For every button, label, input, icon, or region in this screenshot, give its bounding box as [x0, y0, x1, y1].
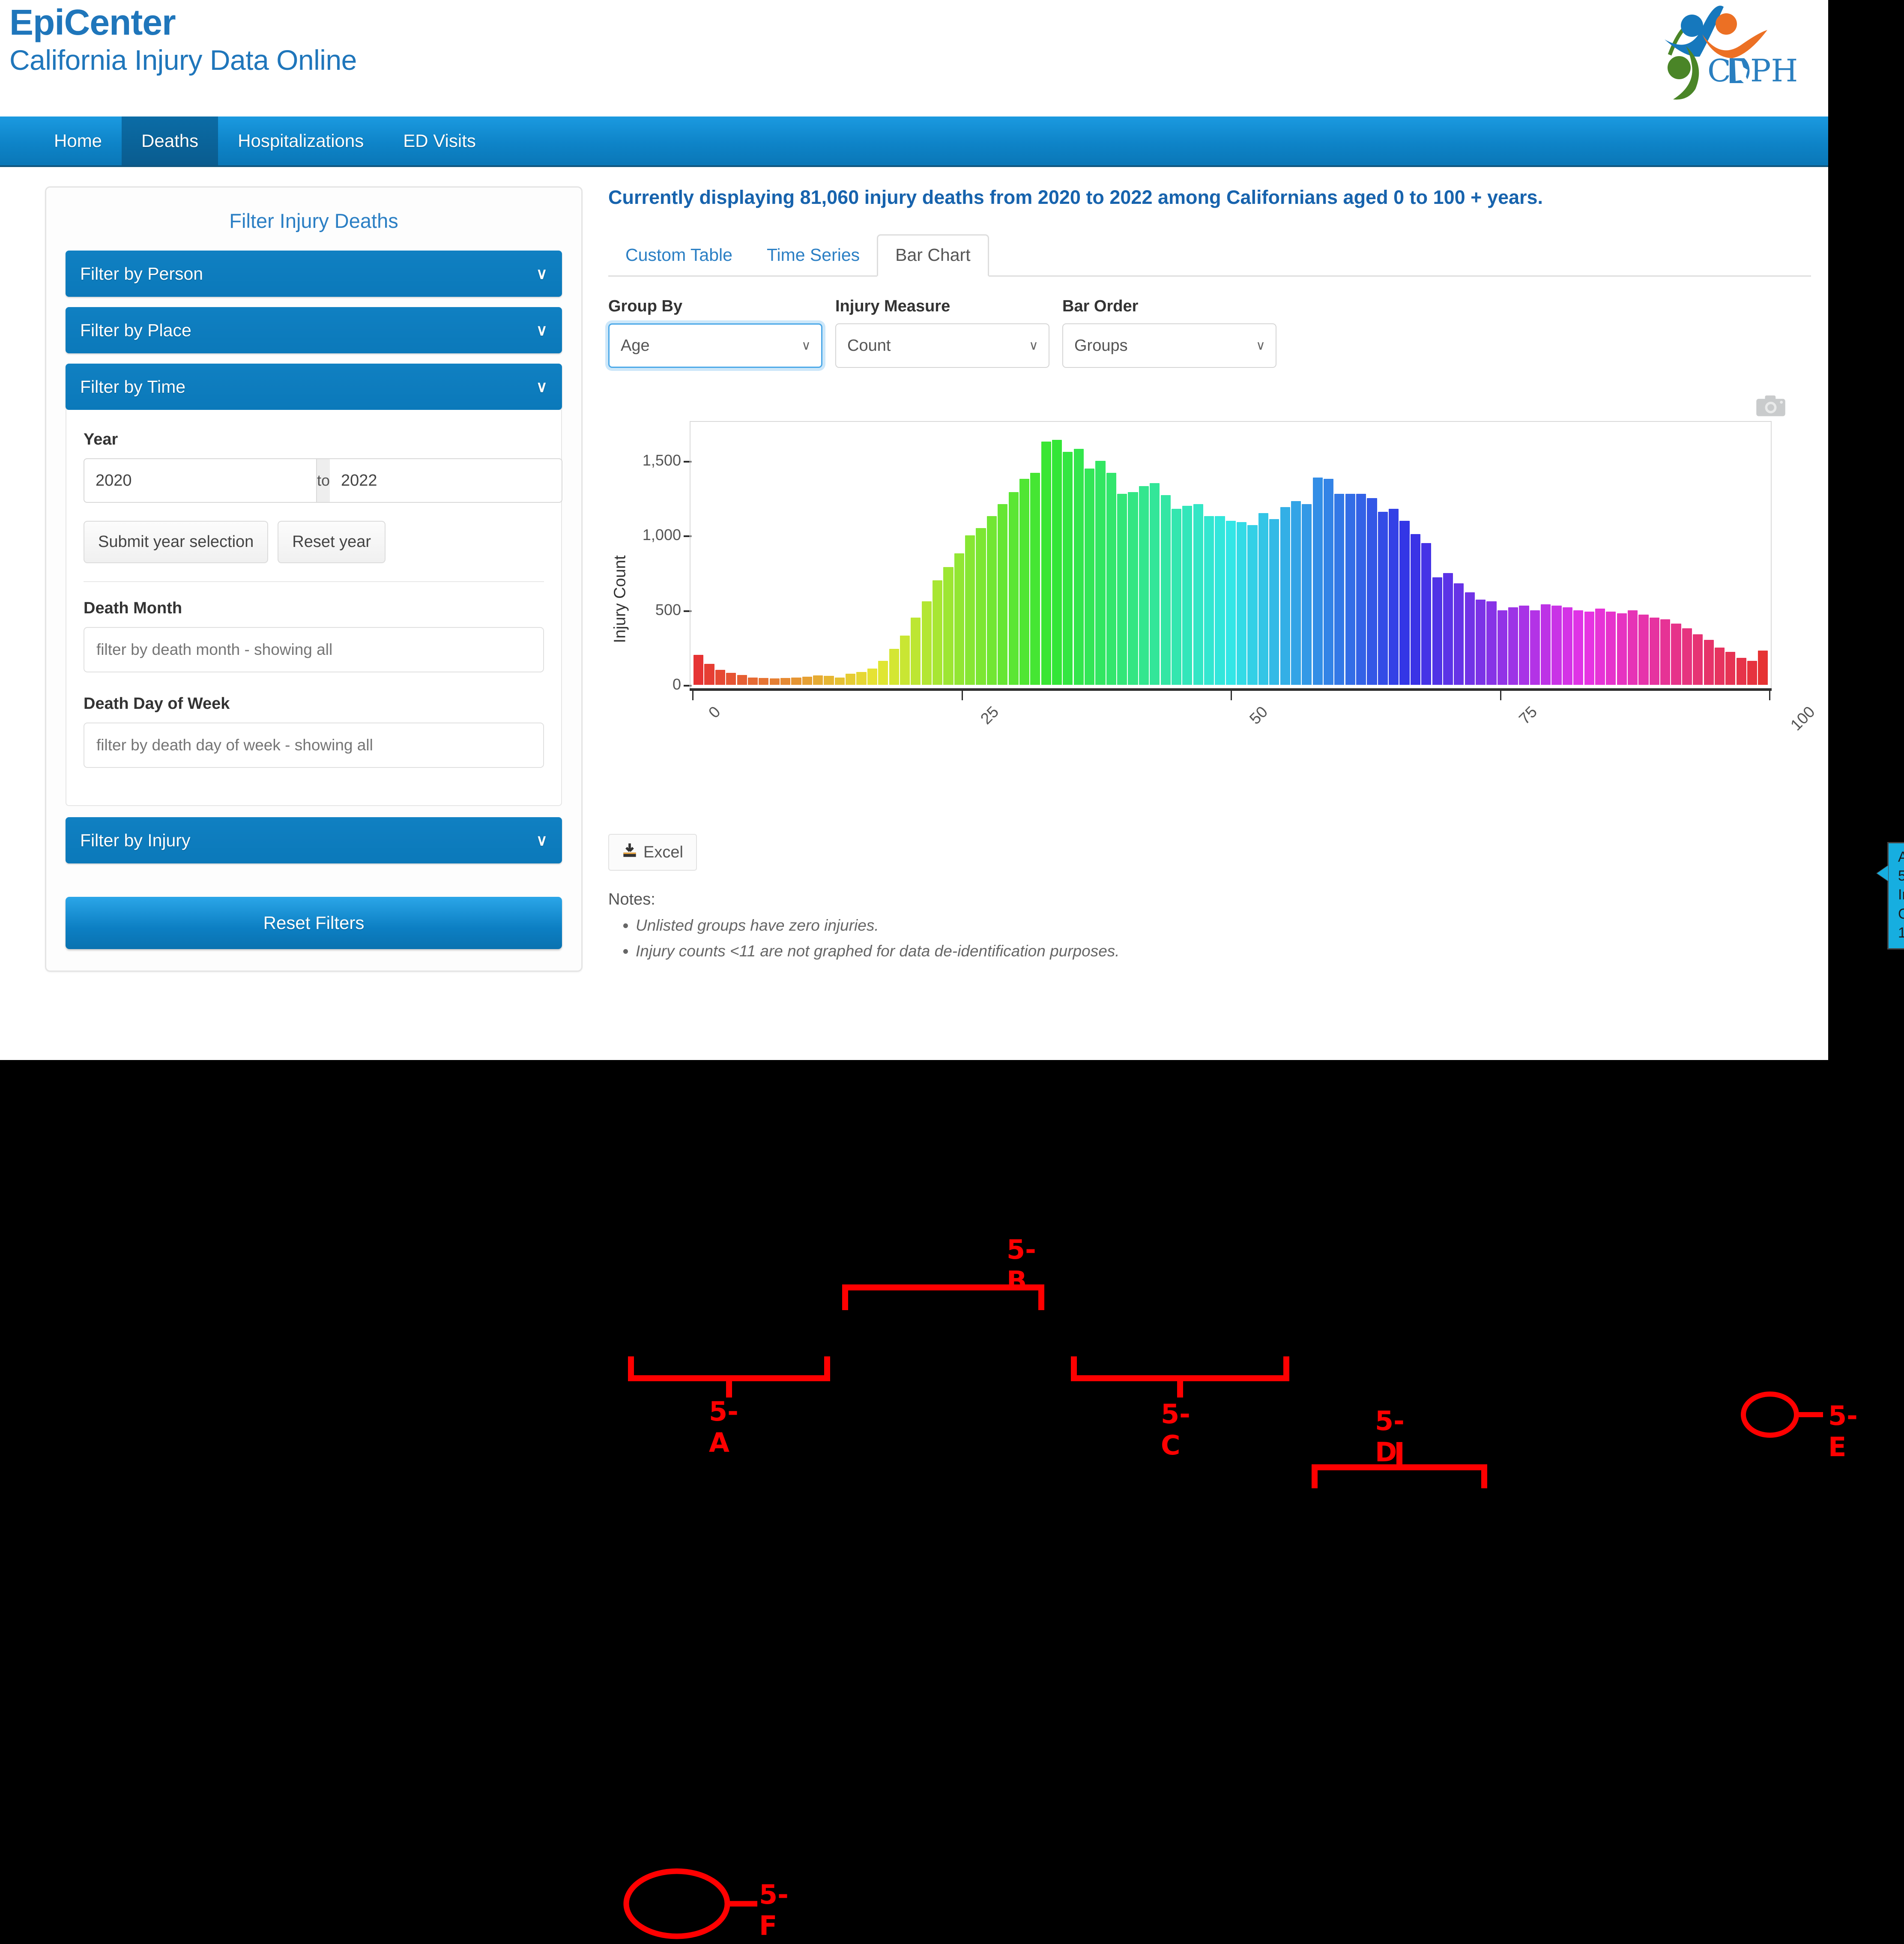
bar-order-control: Bar Order Groups ∨ [1062, 297, 1276, 368]
excel-export-button[interactable]: Excel [608, 834, 697, 871]
injury-measure-select[interactable]: Count ∨ [835, 323, 1049, 368]
group-by-value: Age [621, 337, 650, 355]
tab-custom-table[interactable]: Custom Table [608, 236, 750, 275]
submit-year-selection-button[interactable]: Submit year selection [84, 521, 268, 563]
reset-filters-button[interactable]: Reset Filters [66, 897, 562, 949]
bar[interactable] [987, 516, 997, 685]
bar[interactable] [835, 678, 845, 685]
bar[interactable] [1704, 640, 1714, 685]
chevron-down-icon: ∨ [536, 265, 547, 283]
main-nav[interactable]: Home Deaths Hospitalizations ED Visits [0, 116, 1828, 167]
bar[interactable] [911, 618, 921, 685]
site-title: EpiCenter [9, 4, 357, 41]
accordion-filter-by-person[interactable]: Filter by Person ∨ [66, 251, 562, 297]
bar[interactable] [1584, 612, 1594, 685]
bar[interactable] [1161, 495, 1171, 685]
bar[interactable] [965, 535, 975, 685]
brand: EpiCenter California Injury Data Online [9, 4, 357, 75]
chevron-up-icon: ∨ [536, 378, 547, 396]
bar[interactable] [1139, 486, 1149, 685]
y-axis-tick-mark [684, 610, 691, 612]
bar[interactable] [759, 678, 768, 685]
chart-plot-area: Injury Count 05001,0001,500 0255075100 [608, 411, 1811, 766]
bar[interactable] [1595, 609, 1605, 685]
notes-section: Notes: Unlisted groups have zero injurie… [608, 890, 1811, 960]
list-item: Injury counts <11 are not graphed for da… [636, 942, 1811, 960]
bar[interactable] [1063, 452, 1073, 685]
group-by-label: Group By [608, 297, 822, 316]
accordion-label: Filter by Injury [80, 830, 190, 851]
bar[interactable] [1682, 628, 1692, 685]
sidebar-column: Filter Injury Deaths Filter by Person ∨ … [0, 180, 583, 972]
status-text: Currently displaying 81,060 injury death… [608, 186, 1811, 209]
annotation-label: 5-B [1007, 1234, 1036, 1296]
bar[interactable] [1715, 648, 1725, 685]
bar[interactable] [1204, 516, 1214, 685]
year-to-input[interactable] [330, 458, 562, 503]
bar[interactable] [1454, 583, 1464, 685]
bar[interactable] [1693, 634, 1703, 685]
bar[interactable] [1345, 494, 1355, 685]
nav-item-hospitalizations[interactable]: Hospitalizations [218, 116, 383, 165]
accordion-label: Filter by Time [80, 377, 185, 397]
bar[interactable] [1476, 600, 1486, 685]
chart-tooltip: Age : 57 Injury Count: 1,390 [1887, 842, 1904, 950]
tooltip-arrow [1877, 866, 1888, 881]
y-axis-tick-label: 1,000 [625, 526, 681, 544]
bar[interactable] [1150, 483, 1160, 685]
bar[interactable] [693, 655, 703, 685]
bar[interactable] [1660, 619, 1670, 685]
annotation-label: 5-C [1161, 1398, 1190, 1461]
bar[interactable] [824, 676, 834, 685]
bar[interactable] [737, 675, 747, 685]
filter-by-time-panel: Year to Submit year selection Reset year… [66, 410, 562, 806]
bar[interactable] [715, 670, 725, 685]
bar[interactable] [1563, 607, 1572, 685]
chart-controls: Group By Age ∨ Injury Measure Count ∨ Ba… [608, 297, 1811, 368]
tooltip-line-1: Age : 57 [1898, 848, 1904, 885]
bar[interactable] [1313, 478, 1323, 685]
chevron-down-icon: ∨ [801, 338, 811, 353]
chevron-down-icon: ∨ [536, 831, 547, 849]
group-by-control: Group By Age ∨ [608, 297, 822, 368]
x-axis: 0255075100 [690, 688, 1772, 691]
bar[interactable] [1324, 479, 1333, 685]
bar[interactable] [813, 675, 823, 685]
y-axis-tick-mark [684, 535, 691, 537]
bar[interactable] [1247, 525, 1257, 685]
bar[interactable] [1541, 604, 1551, 685]
bar[interactable] [1725, 652, 1735, 685]
death-day-of-week-label: Death Day of Week [84, 695, 544, 713]
bar[interactable] [1367, 498, 1377, 685]
x-axis-tick-label: 50 [1246, 703, 1271, 728]
filter-panel-title: Filter Injury Deaths [66, 209, 562, 233]
x-axis-tick-mark [692, 691, 693, 700]
bar[interactable] [1617, 613, 1627, 685]
bar[interactable] [922, 601, 932, 685]
list-item: Unlisted groups have zero injuries. [636, 917, 1811, 935]
bars-container [693, 424, 1768, 685]
year-button-row: Submit year selection Reset year [84, 521, 544, 563]
bar[interactable] [1519, 606, 1529, 685]
x-axis-tick-mark [1769, 691, 1770, 700]
bar[interactable] [867, 669, 877, 685]
death-month-label: Death Month [84, 599, 544, 618]
bar[interactable] [1258, 513, 1268, 685]
y-axis-tick-mark [684, 461, 691, 463]
death-day-of-week-input[interactable] [84, 723, 544, 768]
bar[interactable] [1638, 615, 1648, 685]
x-axis-tick-mark [1231, 691, 1232, 700]
death-month-input[interactable] [84, 627, 544, 672]
bar[interactable] [1215, 516, 1225, 685]
annotation-label: 5-A [709, 1396, 738, 1458]
year-range-row: to [84, 458, 544, 503]
bar[interactable] [1551, 606, 1561, 685]
notes-title: Notes: [608, 890, 1811, 909]
bar[interactable] [1508, 607, 1518, 685]
accordion-label: Filter by Person [80, 264, 203, 284]
tab-bar-chart[interactable]: Bar Chart [877, 234, 989, 277]
bar[interactable] [976, 528, 986, 685]
bar[interactable] [1019, 479, 1029, 685]
x-axis-tick-label: 100 [1787, 703, 1818, 734]
bar[interactable] [1378, 512, 1388, 685]
bar[interactable] [889, 649, 899, 685]
cdph-logo: C PH [1653, 3, 1824, 110]
bar[interactable] [1074, 449, 1084, 685]
year-range-separator: to [317, 458, 330, 503]
y-axis-title: Injury Count [611, 555, 630, 643]
bar[interactable] [1671, 624, 1681, 685]
bar[interactable] [998, 504, 1007, 685]
bar[interactable] [954, 553, 964, 685]
bar[interactable] [1443, 573, 1453, 685]
bar[interactable] [1628, 610, 1638, 685]
bar[interactable] [1389, 509, 1399, 685]
notes-list: Unlisted groups have zero injuries. Inju… [608, 917, 1811, 960]
bar[interactable] [1399, 521, 1409, 685]
site-header: EpiCenter California Injury Data Online … [0, 0, 1828, 116]
bar[interactable] [791, 678, 801, 685]
filter-panel: Filter Injury Deaths Filter by Person ∨ … [45, 186, 583, 972]
download-icon [622, 842, 637, 862]
bar[interactable] [1573, 610, 1583, 685]
app-page: EpiCenter California Injury Data Online … [0, 0, 1828, 1060]
chevron-down-icon: ∨ [1256, 338, 1265, 353]
bar[interactable] [1302, 504, 1312, 685]
accordion-filter-by-injury[interactable]: Filter by Injury ∨ [66, 817, 562, 863]
bar[interactable] [1606, 612, 1616, 685]
injury-measure-control: Injury Measure Count ∨ [835, 297, 1049, 368]
year-label: Year [84, 430, 544, 449]
nav-item-deaths[interactable]: Deaths [122, 116, 218, 165]
bar[interactable] [1758, 651, 1768, 685]
bar[interactable] [704, 664, 714, 685]
bar[interactable] [1280, 507, 1290, 685]
bar[interactable] [1172, 509, 1181, 685]
bar[interactable] [1411, 534, 1420, 685]
bar[interactable] [1009, 492, 1019, 685]
y-axis-tick-label: 0 [625, 675, 681, 693]
y-axis-tick-label: 1,500 [625, 451, 681, 469]
bar[interactable] [1497, 610, 1507, 685]
bar[interactable] [1095, 461, 1105, 685]
bar-order-select[interactable]: Groups ∨ [1062, 323, 1276, 368]
bar[interactable] [1182, 506, 1192, 685]
bar[interactable] [1269, 519, 1279, 685]
bar[interactable] [1117, 494, 1127, 685]
bar-order-label: Bar Order [1062, 297, 1276, 316]
annotation-label: 5-F [759, 1879, 789, 1941]
bar[interactable] [1530, 610, 1540, 685]
y-axis-tick-mark [684, 685, 691, 687]
group-by-select[interactable]: Age ∨ [608, 323, 822, 368]
page-content: Filter Injury Deaths Filter by Person ∨ … [0, 167, 1828, 972]
tooltip-line-2: Injury Count: 1,390 [1898, 885, 1904, 942]
view-tabs[interactable]: Custom Table Time Series Bar Chart [608, 234, 1811, 277]
bar[interactable] [1030, 473, 1040, 685]
bar[interactable] [856, 672, 866, 685]
year-from-input[interactable] [84, 458, 317, 503]
excel-export-label: Excel [643, 843, 683, 862]
chevron-down-icon: ∨ [1029, 338, 1038, 353]
bar[interactable] [1041, 442, 1051, 685]
bar[interactable] [878, 661, 888, 685]
bar[interactable] [1650, 618, 1659, 685]
tab-time-series[interactable]: Time Series [750, 236, 877, 275]
x-axis-tick-label: 0 [705, 703, 724, 722]
bar[interactable] [1128, 492, 1138, 685]
injury-measure-value: Count [847, 337, 891, 355]
bar[interactable] [943, 567, 953, 685]
bar[interactable] [780, 678, 790, 685]
accordion-filter-by-place[interactable]: Filter by Place ∨ [66, 307, 562, 353]
bar-chart-container: Injury Count 05001,0001,500 0255075100 A… [608, 385, 1811, 813]
injury-measure-label: Injury Measure [835, 297, 1049, 316]
x-axis-tick-mark [1500, 691, 1501, 700]
bar[interactable] [900, 636, 910, 685]
bar[interactable] [726, 673, 736, 685]
bar[interactable] [1193, 504, 1203, 685]
bar[interactable] [1421, 543, 1431, 685]
bar[interactable] [1237, 522, 1246, 685]
bar[interactable] [1356, 494, 1366, 685]
bar[interactable] [1747, 661, 1757, 685]
panel-divider [84, 581, 544, 582]
site-subtitle: California Injury Data Online [9, 45, 357, 76]
annotation-label: 5-D [1375, 1405, 1405, 1468]
bar[interactable] [748, 678, 758, 685]
reset-year-button[interactable]: Reset year [278, 521, 386, 563]
nav-item-ed-visits[interactable]: ED Visits [383, 116, 496, 165]
svg-text:C: C [1707, 53, 1731, 89]
export-row: Excel [608, 834, 1811, 871]
bar[interactable] [1085, 469, 1094, 685]
svg-text:PH: PH [1750, 53, 1798, 89]
bar[interactable] [846, 674, 855, 685]
bar[interactable] [1465, 592, 1475, 685]
nav-item-home[interactable]: Home [34, 116, 122, 165]
x-axis-tick-mark [962, 691, 963, 700]
main-column: Currently displaying 81,060 injury death… [583, 180, 1828, 972]
bar[interactable] [1106, 473, 1116, 685]
accordion-label: Filter by Place [80, 320, 191, 340]
x-axis-tick-label: 25 [977, 703, 1002, 728]
bar[interactable] [1291, 501, 1301, 685]
bar[interactable] [1334, 494, 1344, 685]
bar[interactable] [1737, 658, 1746, 685]
y-axis-tick-label: 500 [625, 601, 681, 619]
accordion-filter-by-time[interactable]: Filter by Time ∨ [66, 364, 562, 410]
bar[interactable] [1432, 577, 1442, 685]
chevron-down-icon: ∨ [536, 321, 547, 339]
bar[interactable] [802, 677, 812, 685]
bar[interactable] [933, 580, 942, 685]
bar[interactable] [770, 678, 780, 685]
bar[interactable] [1052, 440, 1062, 685]
x-axis-tick-label: 75 [1515, 703, 1541, 728]
bar[interactable] [1226, 521, 1236, 685]
annotation-label: 5-E [1828, 1400, 1858, 1463]
bar[interactable] [1486, 601, 1496, 685]
bar-order-value: Groups [1074, 337, 1128, 355]
